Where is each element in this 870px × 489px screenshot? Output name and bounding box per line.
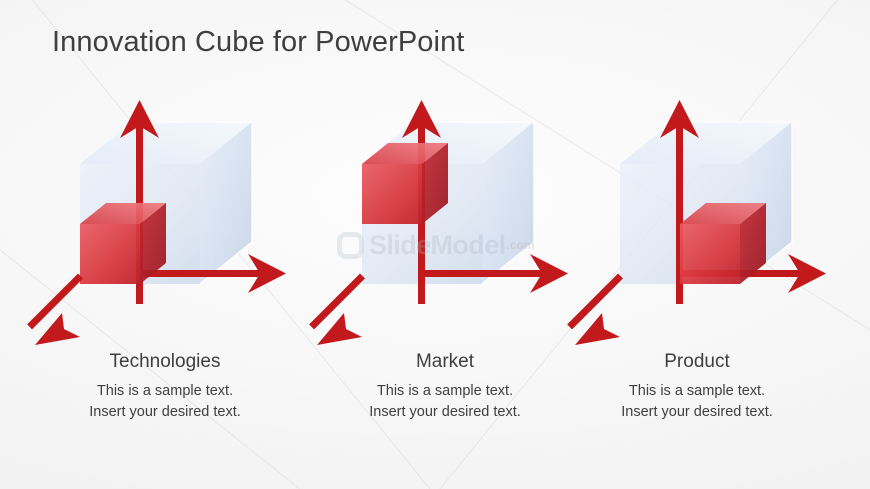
caption-line-2: Insert your desired text. bbox=[20, 402, 310, 423]
innovation-cube-diagram bbox=[558, 92, 848, 352]
innovation-cube-diagram bbox=[18, 92, 308, 352]
highlight-cube bbox=[680, 203, 766, 284]
caption-market: Market This is a sample text. Insert you… bbox=[300, 352, 590, 423]
caption-title: Technologies bbox=[20, 352, 310, 373]
highlight-cube bbox=[80, 203, 166, 284]
z-axis-shaft bbox=[309, 274, 365, 330]
caption-line-2: Insert your desired text. bbox=[552, 402, 842, 423]
highlight-cube bbox=[362, 143, 448, 224]
slide-canvas: Innovation Cube for PowerPoint bbox=[0, 0, 870, 489]
x-axis-shaft bbox=[418, 270, 544, 277]
page-title: Innovation Cube for PowerPoint bbox=[52, 26, 464, 59]
cube-group-technologies[interactable] bbox=[18, 92, 308, 352]
caption-title: Market bbox=[300, 352, 590, 373]
caption-line-1: This is a sample text. bbox=[552, 381, 842, 402]
cube-group-product[interactable] bbox=[558, 92, 848, 352]
caption-product: Product This is a sample text. Insert yo… bbox=[552, 352, 842, 423]
caption-title: Product bbox=[552, 352, 842, 373]
z-axis-shaft bbox=[27, 274, 83, 330]
caption-line-2: Insert your desired text. bbox=[300, 402, 590, 423]
caption-line-1: This is a sample text. bbox=[300, 381, 590, 402]
z-axis-shaft bbox=[567, 274, 623, 330]
cube-group-market[interactable] bbox=[300, 92, 590, 352]
innovation-cube-diagram bbox=[300, 92, 590, 352]
caption-technologies: Technologies This is a sample text. Inse… bbox=[20, 352, 310, 423]
caption-line-1: This is a sample text. bbox=[20, 381, 310, 402]
